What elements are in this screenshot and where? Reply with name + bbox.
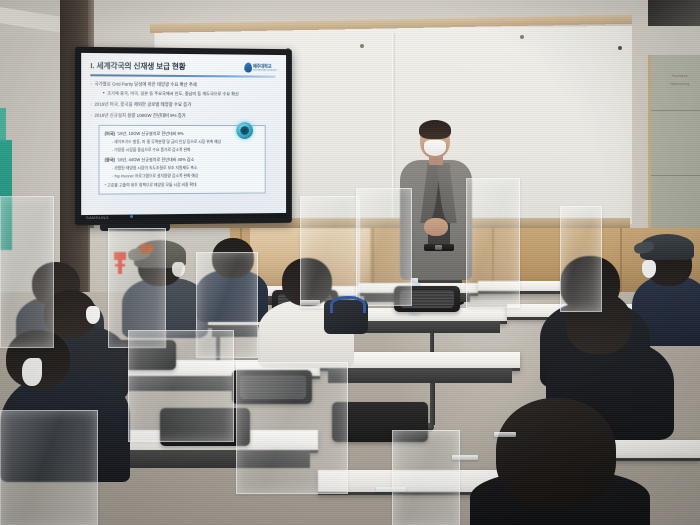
acrylic-divider bbox=[392, 430, 460, 525]
acrylic-divider-foot bbox=[376, 487, 406, 492]
lecture-hall-photo: Business Networking I. 세계각국의 신재생 보급 현황 제… bbox=[0, 0, 700, 525]
water-bottle-cap bbox=[411, 278, 418, 283]
notice-board-line1: Business bbox=[658, 73, 700, 79]
notice-board-line2: Networking bbox=[658, 81, 700, 87]
acrylic-divider bbox=[0, 410, 98, 525]
wainscot-seam bbox=[620, 228, 622, 294]
face-mask bbox=[86, 306, 100, 324]
presenter-hair bbox=[419, 120, 451, 139]
green-wall-panel-upper bbox=[0, 108, 6, 142]
presenter-hands bbox=[424, 218, 448, 236]
desk-apron bbox=[362, 321, 500, 333]
display-brand-label: SAMSUNG bbox=[86, 215, 109, 220]
presenter-face-mask bbox=[424, 140, 446, 156]
ceiling-vent bbox=[648, 0, 700, 26]
acrylic-divider bbox=[560, 206, 602, 312]
display-bezel bbox=[75, 47, 292, 226]
acrylic-divider bbox=[236, 362, 348, 494]
presentation-display[interactable]: I. 세계각국의 신재생 보급 현황 제주대학교 JEJU NATIONAL U… bbox=[75, 47, 292, 226]
headphones bbox=[330, 296, 366, 313]
face-mask bbox=[22, 358, 42, 386]
acrylic-divider bbox=[0, 196, 54, 348]
acrylic-divider-foot bbox=[300, 300, 320, 305]
presenter-belt-buckle bbox=[435, 245, 442, 250]
desk-apron bbox=[328, 368, 512, 383]
acrylic-divider bbox=[356, 188, 412, 306]
face-mask bbox=[642, 260, 656, 278]
whiteboard-magnet bbox=[618, 46, 622, 50]
whiteboard-magnet bbox=[520, 35, 524, 39]
acrylic-divider bbox=[300, 196, 360, 308]
desk-leg bbox=[430, 383, 435, 425]
acrylic-divider-foot bbox=[494, 432, 516, 437]
acrylic-divider bbox=[466, 178, 520, 308]
acrylic-divider bbox=[128, 330, 234, 442]
acrylic-divider-foot bbox=[452, 455, 478, 460]
face-mask bbox=[172, 262, 185, 277]
whiteboard-magnet bbox=[360, 44, 364, 48]
notice-board: Business Networking bbox=[648, 55, 700, 240]
display-power-led bbox=[130, 215, 133, 218]
